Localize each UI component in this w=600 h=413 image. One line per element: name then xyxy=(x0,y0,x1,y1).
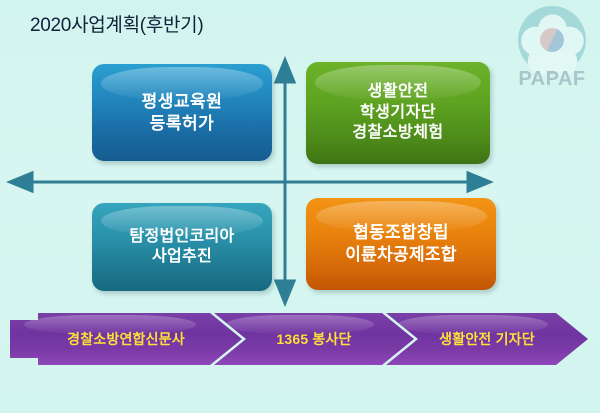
slide-canvas: 2020사업계획(후반기) PAPAF 평생교육원 등록허가 생 xyxy=(0,0,600,413)
quadrant-box-top-right[interactable]: 생활안전 학생기자단 경찰소방체험 xyxy=(306,62,490,164)
taegeuk-icon xyxy=(540,28,564,52)
quadrant-box-bottom-right-label: 협동조합창립 이륜차공제조합 xyxy=(345,222,457,266)
quadrant-line: 평생교육원 xyxy=(142,91,223,113)
quadrant-line: 경찰소방체험 xyxy=(352,123,443,143)
quadrant-box-bottom-left-label: 탐정법인코리아 사업추진 xyxy=(129,227,234,268)
quadrant-box-bottom-left[interactable]: 탐정법인코리아 사업추진 xyxy=(92,203,272,291)
quadrant-box-bottom-right[interactable]: 협동조합창립 이륜차공제조합 xyxy=(306,198,496,290)
quadrant-box-top-left[interactable]: 평생교육원 등록허가 xyxy=(92,64,272,161)
arrow-head-right-icon xyxy=(468,173,490,191)
quadrant-line: 등록허가 xyxy=(142,113,223,135)
quadrant-box-top-left-label: 평생교육원 등록허가 xyxy=(142,91,223,135)
logo-brand-text: PAPAF xyxy=(512,68,592,91)
process-banner: 경찰소방연합신문사 1365 봉사단 생활안전 기자단 xyxy=(10,313,588,365)
quadrant-line: 이륜차공제조합 xyxy=(345,244,457,266)
quadrant-line: 사업추진 xyxy=(129,247,234,267)
quadrant-line: 탐정법인코리아 xyxy=(129,227,234,247)
arrow-head-up-icon xyxy=(276,60,294,82)
arrow-head-left-icon xyxy=(10,173,32,191)
quadrant-line: 협동조합창립 xyxy=(345,222,457,244)
process-step-2[interactable]: 1365 봉사단 xyxy=(214,313,414,365)
process-step-2-label: 1365 봉사단 xyxy=(276,329,351,349)
quadrant-box-top-right-label: 생활안전 학생기자단 경찰소방체험 xyxy=(352,82,443,143)
quadrant-line: 생활안전 xyxy=(352,82,443,102)
process-step-1[interactable]: 경찰소방연합신문사 xyxy=(10,313,242,365)
page-title: 2020사업계획(후반기) xyxy=(30,10,203,37)
papaf-logo: PAPAF xyxy=(512,6,592,90)
arrow-head-down-icon xyxy=(276,281,294,303)
process-step-3-label: 생활안전 기자단 xyxy=(439,329,535,349)
process-step-3[interactable]: 생활안전 기자단 xyxy=(386,313,588,365)
quadrant-line: 학생기자단 xyxy=(352,103,443,123)
process-step-1-label: 경찰소방연합신문사 xyxy=(67,329,185,349)
